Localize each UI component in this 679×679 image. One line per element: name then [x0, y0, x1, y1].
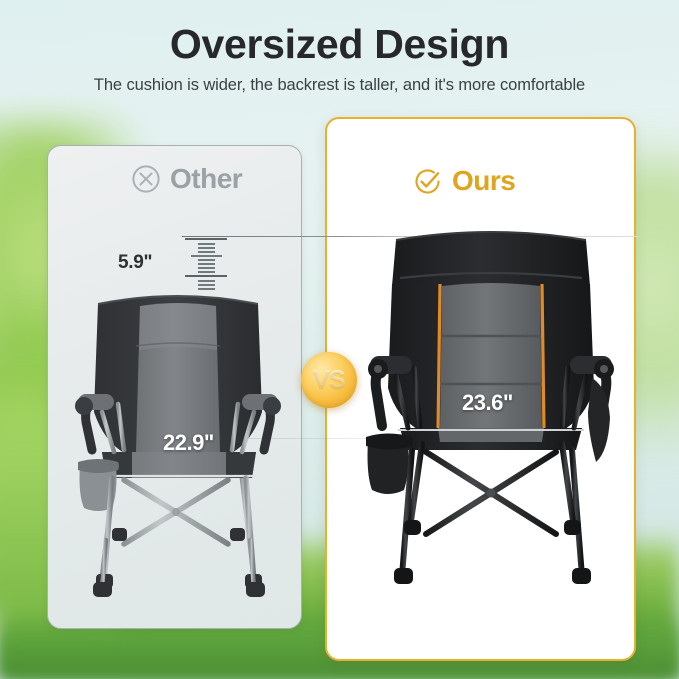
panel-header-other: Other	[131, 163, 242, 195]
circle-check-icon	[412, 166, 443, 197]
panel-header-ours: Ours	[412, 165, 515, 197]
panel-header-ours-label: Ours	[452, 165, 515, 197]
circle-x-icon	[131, 164, 161, 194]
page-title: Oversized Design	[0, 22, 679, 67]
page-subtitle: The cushion is wider, the backrest is ta…	[0, 76, 679, 95]
header: Oversized Design The cushion is wider, t…	[0, 22, 679, 95]
vs-badge: VS	[301, 352, 357, 408]
vs-badge-label: VS	[313, 366, 345, 395]
measurement-label-backrest-difference: 5.9"	[118, 252, 152, 274]
measurement-label-other-backrest: 22.9"	[163, 430, 214, 456]
panel-header-other-label: Other	[170, 163, 242, 195]
measurement-label-ours-backrest: 23.6"	[462, 390, 513, 416]
